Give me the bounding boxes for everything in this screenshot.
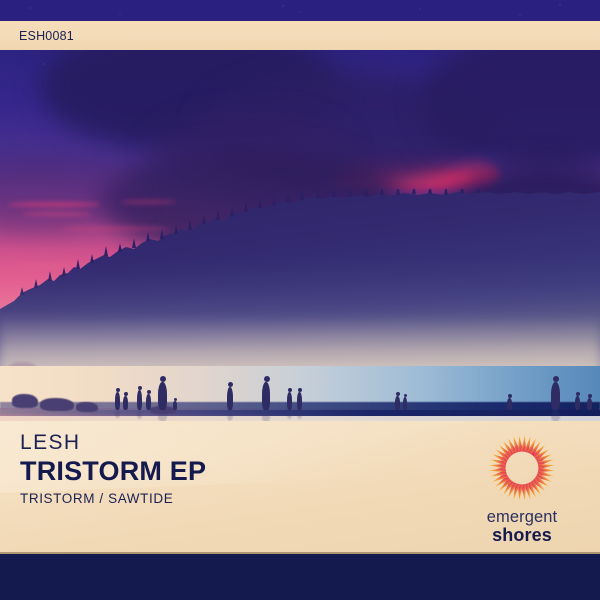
person — [403, 397, 407, 410]
person — [173, 401, 177, 410]
person — [507, 398, 512, 410]
label-word-bottom: shores — [487, 526, 558, 544]
person-reflection — [227, 410, 233, 421]
person-reflection — [551, 410, 560, 421]
info-panel: LESH TRISTORM EP TRISTORM / SAWTIDE — [0, 421, 600, 554]
person-reflection — [158, 410, 167, 421]
person-reflection — [115, 410, 120, 418]
person-reflection — [287, 410, 292, 419]
person — [395, 396, 400, 410]
artist-name: LESH — [20, 432, 206, 453]
person-reflection — [262, 410, 270, 421]
catalog-banner: ESH0081 — [0, 21, 600, 50]
person — [115, 392, 120, 410]
person — [158, 382, 167, 410]
person — [551, 382, 560, 410]
person — [146, 394, 151, 410]
person-reflection — [137, 410, 142, 419]
label-word-top: emergent — [487, 509, 558, 526]
person — [227, 387, 233, 410]
cover-photo — [0, 50, 600, 421]
person — [587, 398, 592, 410]
release-text-block: LESH TRISTORM EP TRISTORM / SAWTIDE — [20, 432, 206, 506]
person — [287, 392, 292, 410]
person — [262, 382, 270, 410]
label-wordmark: emergent shores — [487, 509, 558, 544]
tracklist: TRISTORM / SAWTIDE — [20, 492, 206, 506]
beach-figures — [0, 50, 600, 421]
foreground-rock — [76, 402, 98, 412]
album-cover: ESH0081 — [0, 0, 600, 600]
person — [297, 392, 302, 410]
person — [123, 396, 128, 410]
top-navy-border — [0, 0, 600, 21]
person — [137, 390, 142, 410]
foreground-rock — [12, 394, 38, 408]
catalog-number: ESH0081 — [19, 29, 74, 43]
release-title: TRISTORM EP — [20, 458, 206, 485]
bottom-navy-border — [0, 554, 600, 600]
label-logo: emergent shores — [466, 429, 578, 547]
foreground-rock — [40, 398, 74, 411]
radial-burst-icon — [483, 429, 561, 507]
person — [575, 396, 580, 410]
person-reflection — [297, 410, 302, 419]
